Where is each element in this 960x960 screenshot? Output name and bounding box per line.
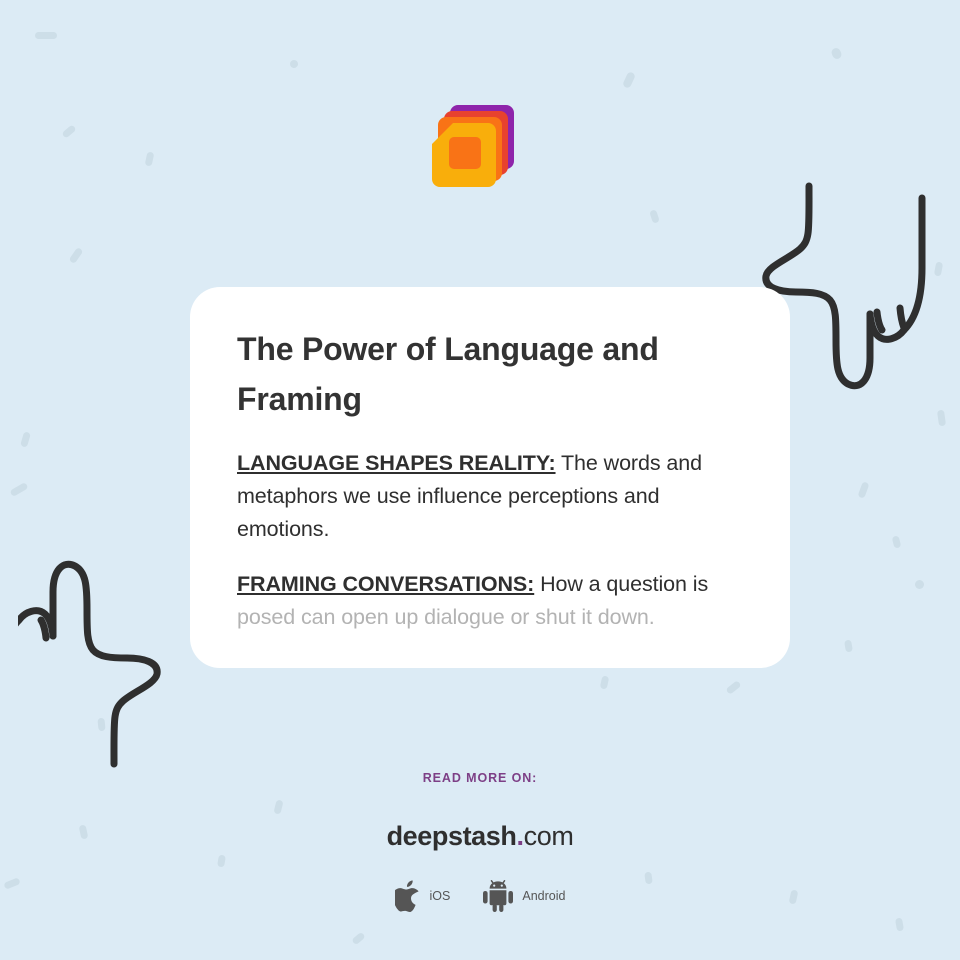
footer: READ MORE ON: deepstash.com iOS — [0, 760, 960, 912]
confetti-speck — [844, 639, 853, 652]
confetti-speck — [915, 580, 924, 589]
android-store-badge[interactable]: Android — [483, 880, 565, 912]
confetti-speck — [145, 151, 155, 166]
confetti-speck — [351, 932, 365, 946]
confetti-speck — [725, 680, 741, 695]
confetti-speck — [20, 431, 31, 447]
confetti-speck — [289, 59, 299, 69]
deepstash-logo-icon — [425, 100, 525, 200]
confetti-speck — [600, 675, 610, 689]
confetti-speck — [937, 410, 946, 427]
confetti-speck — [892, 535, 902, 548]
confetti-speck — [35, 32, 57, 39]
confetti-speck — [857, 481, 869, 498]
confetti-speck — [895, 917, 904, 931]
insight-body-2: How a question is — [534, 572, 708, 596]
ios-store-badge[interactable]: iOS — [395, 880, 451, 912]
page-title: The Power of Language and Framing — [237, 325, 742, 425]
brand-tld: com — [524, 821, 574, 851]
insight-lead-1: LANGUAGE SHAPES REALITY: — [237, 451, 556, 475]
read-more-label: READ MORE ON: — [0, 771, 960, 785]
confetti-speck — [69, 247, 84, 264]
store-badges: iOS And — [0, 880, 960, 912]
apple-icon — [395, 880, 421, 912]
confetti-speck — [61, 124, 76, 138]
confetti-speck — [622, 71, 636, 89]
android-icon — [483, 880, 513, 912]
ios-label: iOS — [430, 889, 451, 903]
confetti-speck — [649, 209, 660, 224]
deepstash-logo — [425, 100, 525, 200]
brand-dot: . — [517, 821, 524, 851]
insight-paragraph-2: FRAMING CONVERSATIONS: How a question is… — [237, 568, 742, 634]
confetti-speck — [9, 482, 28, 497]
pointing-hand-up-illustration — [18, 558, 218, 790]
poster-canvas: The Power of Language and Framing LANGUA… — [0, 0, 960, 960]
confetti-speck — [830, 47, 843, 61]
content-card: The Power of Language and Framing LANGUA… — [190, 287, 790, 668]
android-label: Android — [522, 889, 565, 903]
hand-up-icon — [18, 558, 218, 790]
brand-name: deepstash — [387, 821, 517, 851]
insight-lead-2: FRAMING CONVERSATIONS: — [237, 572, 534, 596]
insight-faded-tail-2: posed can open up dialogue or shut it do… — [237, 605, 655, 629]
insight-paragraph-1: LANGUAGE SHAPES REALITY: The words and m… — [237, 447, 742, 546]
brand-url[interactable]: deepstash.com — [0, 821, 960, 852]
